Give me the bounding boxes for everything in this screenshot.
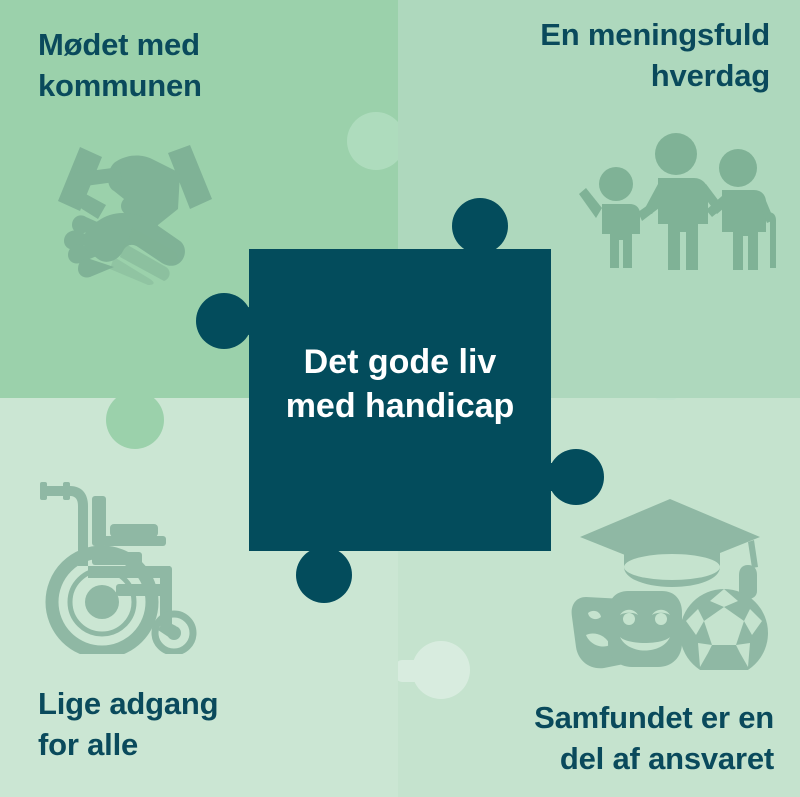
- wheelchair-icon: [30, 470, 214, 654]
- background-puzzle-tab-br-lower: [412, 641, 470, 699]
- quadrant-caption-bottom-right: Samfundet er en del af ansvaret: [398, 697, 774, 779]
- center-title: Det gode liv med handicap: [249, 340, 551, 428]
- quadrant-caption-top-right: En meningsfuld hverdag: [410, 14, 770, 96]
- quadrant-bottom-left: Lige adgang for alle: [0, 398, 398, 797]
- background-puzzle-tab-bottom-left: [106, 398, 164, 449]
- community-icons: [562, 495, 768, 670]
- background-puzzle-tab-neck-br-upper: [654, 398, 678, 400]
- family-icon: [578, 128, 776, 270]
- quadrant-top-left: Mødet med kommunen: [0, 0, 398, 398]
- background-puzzle-tab-neck-top-left: [383, 130, 398, 154]
- handshake-icon: [28, 133, 218, 285]
- quadrant-bottom-right: Samfundet er en del af ansvaret: [398, 398, 800, 797]
- infographic-canvas: Mødet med kommunen: [0, 0, 800, 797]
- background-puzzle-tab-neck-br-lower: [398, 660, 420, 682]
- quadrant-caption-bottom-left: Lige adgang for alle: [38, 683, 368, 765]
- quadrant-top-right: En meningsfuld hverdag: [398, 0, 800, 398]
- quadrant-caption-top-left: Mødet med kommunen: [38, 24, 368, 106]
